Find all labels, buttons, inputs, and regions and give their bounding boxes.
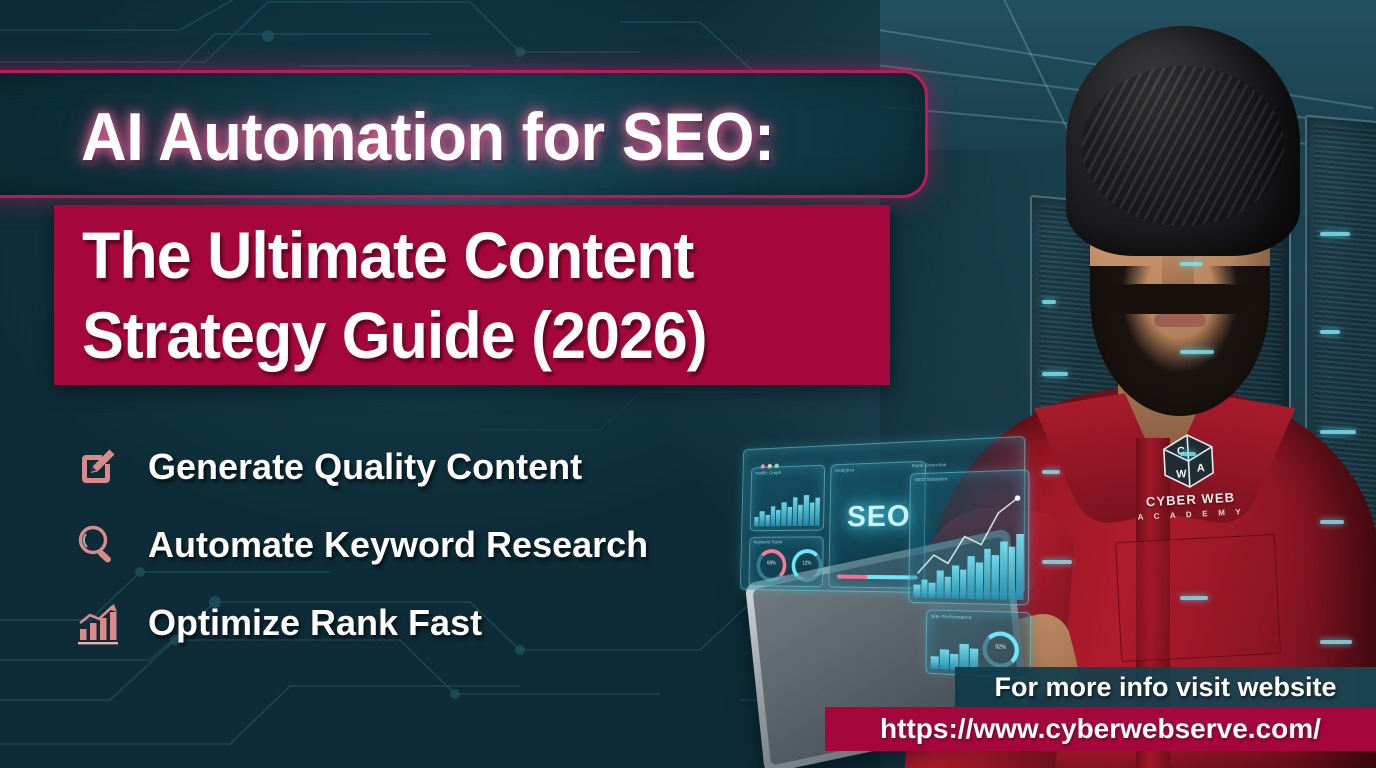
list-item: Automate Keyword Research [70, 506, 770, 584]
performance-bars [931, 638, 979, 672]
subheadline-box: The Ultimate Content Strategy Guide (202… [54, 205, 890, 385]
website-url[interactable]: https://www.cyberwebserve.com/ [880, 713, 1321, 745]
cta-prompt-band: For more info visit website [955, 667, 1376, 707]
panel-label: Site Performance [931, 614, 972, 620]
cta-url-band[interactable]: https://www.cyberwebserve.com/ [825, 707, 1376, 751]
seo-statistics-panel: SEO Statistics [908, 469, 1029, 605]
moustache [1116, 284, 1244, 314]
holographic-seo-dashboard: Traffic Graph Keyword Rank 68% 12% Analy… [728, 425, 1039, 682]
rank-gauge-value: 12% [792, 561, 823, 567]
cta-prompt-text: For more info visit website [994, 672, 1336, 703]
shirt-brand-logo: C W A CYBER WEB A C A D E M Y [1121, 429, 1259, 552]
bar-chart-up-icon [70, 596, 124, 650]
edit-pencil-icon [70, 440, 124, 494]
list-item: Optimize Rank Fast [70, 584, 770, 662]
magnifier-icon [70, 518, 124, 572]
panel-label: Analytics [835, 467, 854, 473]
feature-list: Generate Quality Content Automate Keywor… [70, 428, 770, 662]
subheadline-line-2: Strategy Guide (2026) [82, 295, 861, 375]
optimization-progress-bar [837, 575, 918, 580]
svg-text:A: A [1197, 462, 1206, 474]
page-title: AI Automation for SEO: [81, 93, 775, 181]
feature-label: Automate Keyword Research [148, 524, 648, 566]
feature-label: Generate Quality Content [148, 446, 582, 488]
list-item: Generate Quality Content [70, 428, 770, 506]
turban [1066, 26, 1300, 256]
cube-logo-icon: C W A [1159, 431, 1218, 492]
seo-marketing-banner: C W A CYBER WEB A C A D E M Y Traffic Gr… [0, 0, 1376, 768]
feature-label: Optimize Rank Fast [148, 602, 482, 644]
headline-box: AI Automation for SEO: [0, 70, 928, 198]
svg-text:W: W [1176, 468, 1188, 481]
subheadline-line-1: The Ultimate Content [82, 215, 861, 295]
lips [1154, 314, 1206, 327]
